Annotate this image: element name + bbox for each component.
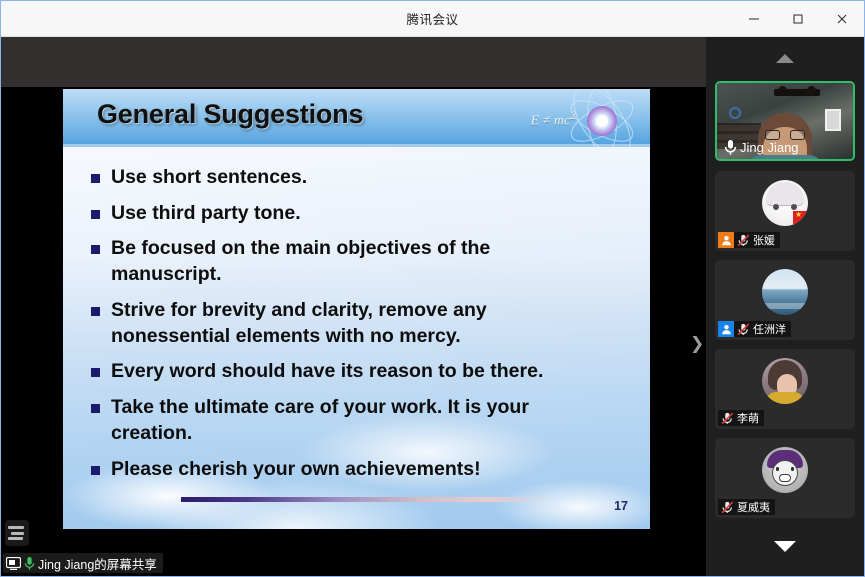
participant-nameplate: 张媛: [718, 232, 780, 248]
list-view-icon[interactable]: [5, 520, 29, 546]
participant-name-chip: Jing Jiang: [721, 139, 804, 155]
bullet-text: Be focused on the main objectives of the…: [111, 236, 581, 287]
slide-footer-bar: [181, 497, 551, 502]
maximize-icon: [792, 13, 804, 25]
screen-share-icon: [6, 557, 21, 570]
microphone-icon: [24, 556, 35, 571]
bullet-square-icon: [91, 307, 100, 316]
microphone-muted-icon: [721, 412, 734, 425]
list-item: Use third party tone.: [91, 201, 634, 227]
avatar: [762, 447, 808, 493]
microphone-muted-icon: [721, 501, 734, 514]
tencent-meeting-window: 腾讯会议: [0, 0, 865, 577]
participant-tile-0[interactable]: Jing Jiang: [715, 81, 855, 161]
participant-strip[interactable]: Jing Jiang: [706, 37, 864, 577]
window-controls: [732, 1, 864, 37]
bullet-text: Take the ultimate care of your work. It …: [111, 395, 581, 446]
minimize-icon: [748, 13, 760, 25]
slide-bullet-list: Use short sentences. Use third party ton…: [91, 165, 634, 492]
person-glyph-icon: [721, 235, 732, 246]
atom-graphic-icon: [552, 89, 644, 147]
scroll-down-arrow-icon[interactable]: [706, 535, 864, 557]
participant-nameplate: Jing Jiang: [721, 139, 804, 155]
participant-nameplate: 夏威夷: [718, 499, 775, 515]
participant-name: 张媛: [753, 232, 775, 248]
shared-screen-pane[interactable]: General Suggestions E ≠ mc2: [1, 37, 706, 577]
participant-name: 李萌: [737, 410, 759, 426]
microphone-muted-icon: [737, 323, 750, 336]
slide-page-number: 17: [614, 499, 628, 513]
minimize-button[interactable]: [732, 1, 776, 37]
participant-name-chip: 李萌: [718, 410, 764, 426]
wall-ring-decor: [729, 107, 741, 119]
avatar: [762, 180, 808, 226]
bullet-square-icon: [91, 245, 100, 254]
list-item: Use short sentences.: [91, 165, 634, 191]
person-glyph-icon: [721, 324, 732, 335]
flag-badge-icon: [793, 211, 808, 224]
bullet-text: Please cherish your own achievements!: [111, 457, 481, 483]
screen-share-label-text: Jing Jiang的屏幕共享: [38, 554, 157, 573]
participant-name-chip: 任洲洋: [734, 321, 791, 337]
bullet-square-icon: [91, 404, 100, 413]
bullet-square-icon: [91, 368, 100, 377]
maximize-button[interactable]: [776, 1, 820, 37]
list-item: Take the ultimate care of your work. It …: [91, 395, 634, 446]
chevron-right-icon[interactable]: ❯: [690, 333, 706, 355]
bullet-text: Every word should have its reason to be …: [111, 359, 543, 385]
microphone-muted-icon: [737, 234, 750, 247]
participant-name: Jing Jiang: [740, 140, 799, 155]
bullet-square-icon: [91, 466, 100, 475]
person-shirt: [747, 155, 823, 161]
avatar: [762, 358, 808, 404]
window-title: 腾讯会议: [406, 9, 458, 28]
participant-tile-4[interactable]: 夏威夷: [715, 438, 855, 518]
list-item: Be focused on the main objectives of the…: [91, 236, 634, 287]
cohost-badge-icon: [718, 321, 734, 337]
microphone-icon: [724, 139, 737, 156]
ceiling-light-decor: [774, 89, 820, 96]
slide-title: General Suggestions: [97, 99, 363, 130]
close-button[interactable]: [820, 1, 864, 37]
list-item: Strive for brevity and clarity, remove a…: [91, 298, 634, 349]
title-bar: 腾讯会议: [1, 1, 864, 37]
participant-name: 夏威夷: [737, 499, 770, 515]
bullet-square-icon: [91, 174, 100, 183]
host-badge-icon: [718, 232, 734, 248]
close-icon: [836, 13, 848, 25]
screen-share-label: Jing Jiang的屏幕共享: [3, 553, 163, 573]
bullet-text: Use third party tone.: [111, 201, 301, 227]
participant-nameplate: 任洲洋: [718, 321, 791, 337]
participant-tile-3[interactable]: 李萌: [715, 349, 855, 429]
bullet-text: Use short sentences.: [111, 165, 307, 191]
list-item: Every word should have its reason to be …: [91, 359, 634, 385]
participant-nameplate: 李萌: [718, 410, 764, 426]
participant-name-chip: 张媛: [734, 232, 780, 248]
bullet-square-icon: [91, 210, 100, 219]
picture-frame-decor: [825, 109, 841, 131]
presentation-slide: General Suggestions E ≠ mc2: [63, 89, 650, 529]
slide-header-band: General Suggestions E ≠ mc2: [63, 89, 650, 147]
avatar: [762, 269, 808, 315]
scroll-up-arrow-icon[interactable]: [706, 47, 864, 69]
list-item: Please cherish your own achievements!: [91, 457, 634, 483]
bullet-text: Strive for brevity and clarity, remove a…: [111, 298, 581, 349]
participant-tile-1[interactable]: 张媛: [715, 171, 855, 251]
participant-tile-2[interactable]: 任洲洋: [715, 260, 855, 340]
participant-name: 任洲洋: [753, 321, 786, 337]
meeting-body: General Suggestions E ≠ mc2: [1, 37, 864, 577]
participant-name-chip: 夏威夷: [718, 499, 775, 515]
shared-screen-topbar: [1, 37, 706, 87]
